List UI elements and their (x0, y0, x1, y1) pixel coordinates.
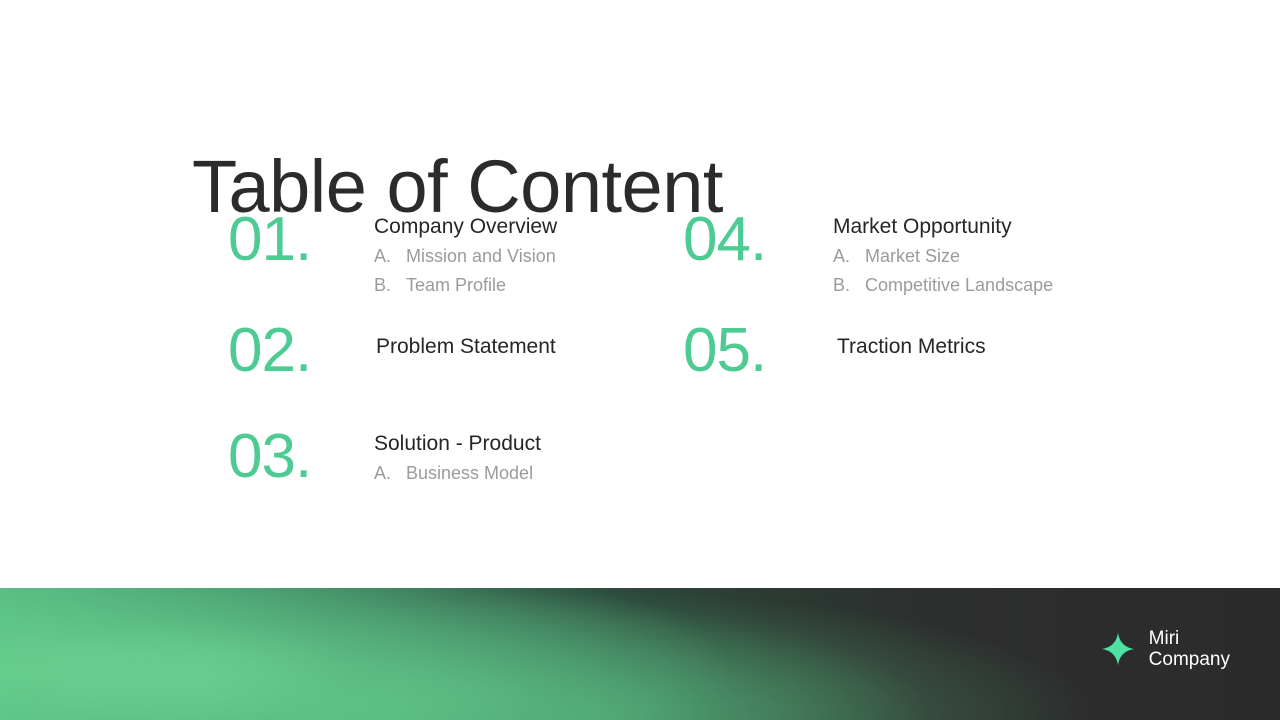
toc-subitem[interactable]: A. Market Size (833, 242, 1053, 271)
toc-item-text: Company Overview A. Mission and Vision B… (374, 209, 557, 300)
toc-item-05[interactable]: 05. Traction Metrics (683, 320, 986, 382)
toc-item-title: Traction Metrics (837, 332, 986, 362)
table-of-contents: 01. Company Overview A. Mission and Visi… (0, 200, 1280, 580)
toc-item-number: 04. (683, 209, 833, 271)
toc-item-text: Solution - Product A. Business Model (374, 426, 541, 488)
toc-item-text: Market Opportunity A. Market Size B. Com… (833, 209, 1053, 300)
toc-subitem[interactable]: A. Mission and Vision (374, 242, 557, 271)
sparkle-icon (1101, 632, 1135, 666)
brand-line-1: Miri (1149, 628, 1230, 649)
toc-subitem[interactable]: B. Competitive Landscape (833, 271, 1053, 300)
footer-glow-left (0, 598, 420, 720)
toc-item-title: Solution - Product (374, 429, 541, 459)
slide-canvas: Table of Content 01. Company Overview A.… (0, 0, 1280, 720)
brand-text: Miri Company (1149, 628, 1230, 670)
toc-subitem-label: Market Size (865, 242, 960, 271)
toc-subitem-key: A. (374, 242, 406, 271)
toc-item-title: Company Overview (374, 212, 557, 242)
toc-item-number: 02. (228, 320, 374, 382)
toc-column-right: 04. Market Opportunity A. Market Size B.… (683, 200, 1243, 580)
toc-subitem[interactable]: A. Business Model (374, 459, 541, 488)
brand-logo[interactable]: Miri Company (1101, 628, 1230, 670)
toc-item-text: Traction Metrics (833, 320, 986, 362)
toc-subitem[interactable]: B. Team Profile (374, 271, 557, 300)
toc-item-title: Market Opportunity (833, 212, 1053, 242)
toc-item-number: 01. (228, 209, 374, 271)
toc-item-text: Problem Statement (374, 320, 556, 362)
brand-line-2: Company (1149, 649, 1230, 670)
toc-subitem-key: A. (833, 242, 865, 271)
toc-subitem-key: A. (374, 459, 406, 488)
toc-subitem-label: Mission and Vision (406, 242, 556, 271)
toc-item-02[interactable]: 02. Problem Statement (228, 320, 556, 382)
toc-subitem-label: Competitive Landscape (865, 271, 1053, 300)
toc-subitem-key: B. (374, 271, 406, 300)
toc-item-title: Problem Statement (376, 332, 556, 362)
footer-band: Miri Company (0, 588, 1280, 720)
toc-subitem-label: Business Model (406, 459, 533, 488)
toc-item-04[interactable]: 04. Market Opportunity A. Market Size B.… (683, 209, 1053, 300)
toc-subitem-key: B. (833, 271, 865, 300)
toc-item-03[interactable]: 03. Solution - Product A. Business Model (228, 426, 541, 488)
toc-item-01[interactable]: 01. Company Overview A. Mission and Visi… (228, 209, 557, 300)
toc-subitem-label: Team Profile (406, 271, 506, 300)
toc-item-number: 03. (228, 426, 374, 488)
toc-item-number: 05. (683, 320, 833, 382)
footer-glow-center (180, 634, 600, 720)
